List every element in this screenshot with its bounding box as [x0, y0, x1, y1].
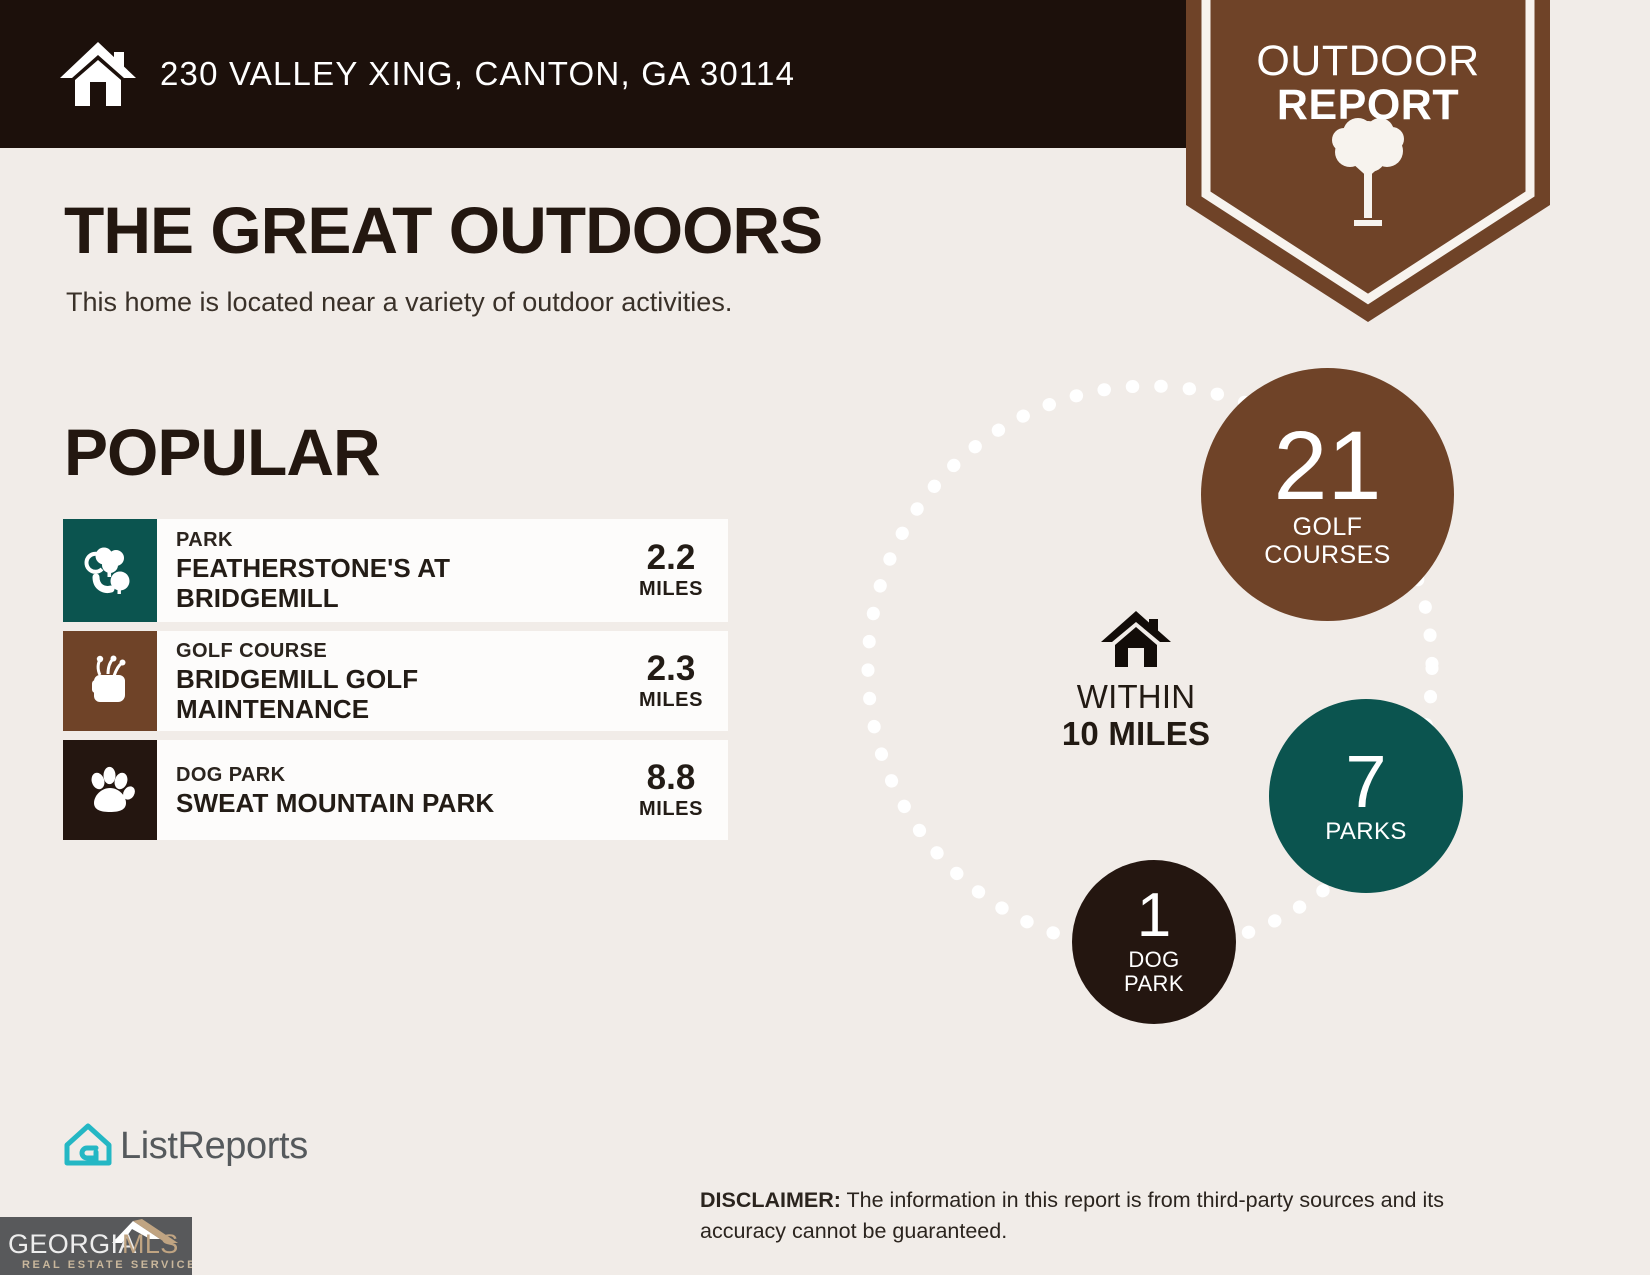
- list-item-name-line1: FEATHERSTONE'S AT: [176, 553, 450, 583]
- bubble-count: 1: [1137, 887, 1171, 946]
- bubble-label-line1: GOLF: [1293, 513, 1363, 541]
- list-item-name: FEATHERSTONE'S AT BRIDGEMILL: [176, 554, 450, 614]
- list-item-category: PARK: [176, 527, 450, 554]
- distance-value: 8.8: [647, 760, 696, 795]
- bubble-label: DOG PARK: [1124, 948, 1184, 996]
- distance-value: 2.3: [647, 651, 696, 686]
- list-item-distance: 2.2 MILES: [620, 519, 728, 622]
- page-title: THE GREAT OUTDOORS: [64, 192, 822, 268]
- bubble-label: PARKS: [1325, 819, 1407, 845]
- bubble-count: 21: [1274, 420, 1382, 512]
- svg-text:REAL ESTATE SERVICES: REAL ESTATE SERVICES: [22, 1259, 192, 1271]
- list-item-name: BRIDGEMILL GOLF MAINTENANCE: [176, 665, 616, 725]
- page-subtitle: This home is located near a variety of o…: [66, 287, 732, 318]
- outdoor-report-page: 230 VALLEY XING, CANTON, GA 30114 OUTDOO…: [0, 0, 1650, 1275]
- disclaimer: DISCLAIMER: The information in this repo…: [700, 1185, 1530, 1246]
- bubble-label-line2: PARK: [1124, 971, 1184, 996]
- list-item-category: DOG PARK: [176, 762, 494, 789]
- bubble-label: GOLF COURSES: [1264, 514, 1390, 569]
- within-label-line1: WITHIN: [1041, 679, 1231, 716]
- bubble-label-line2: COURSES: [1264, 541, 1390, 569]
- distance-value: 2.2: [647, 540, 696, 575]
- list-item-name-line2: BRIDGEMILL: [176, 583, 339, 613]
- listreports-wordmark: ListReports: [120, 1125, 308, 1168]
- amenities-diagram: 21 GOLF COURSES 7 PARKS 1 DOG PARK: [828, 340, 1528, 1070]
- bubble-parks: 7 PARKS: [1269, 699, 1463, 893]
- list-item[interactable]: DOG PARK SWEAT MOUNTAIN PARK 8.8 MILES: [63, 740, 728, 840]
- property-address: 230 VALLEY XING, CANTON, GA 30114: [160, 55, 795, 93]
- list-item-text: PARK FEATHERSTONE'S AT BRIDGEMILL: [157, 519, 620, 622]
- diagram-center-label: WITHIN 10 MILES: [1041, 608, 1231, 753]
- listreports-house-icon: [62, 1120, 114, 1173]
- list-item[interactable]: GOLF COURSE BRIDGEMILL GOLF MAINTENANCE …: [63, 631, 728, 731]
- distance-unit: MILES: [639, 689, 703, 712]
- svg-text:GEORGIA: GEORGIA: [8, 1229, 137, 1259]
- park-trees-icon: [63, 519, 157, 622]
- list-item-distance: 2.3 MILES: [620, 631, 728, 731]
- popular-list: PARK FEATHERSTONE'S AT BRIDGEMILL 2.2 MI…: [63, 519, 728, 849]
- svg-text:MLS: MLS: [122, 1229, 179, 1259]
- distance-unit: MILES: [639, 798, 703, 821]
- list-item-text: DOG PARK SWEAT MOUNTAIN PARK: [157, 740, 620, 840]
- popular-section-heading: POPULAR: [64, 414, 380, 490]
- distance-unit: MILES: [639, 578, 703, 601]
- list-item-text: GOLF COURSE BRIDGEMILL GOLF MAINTENANCE: [157, 631, 620, 731]
- listreports-logo[interactable]: ListReports: [62, 1120, 308, 1173]
- within-label-line2: 10 MILES: [1041, 716, 1231, 753]
- list-item[interactable]: PARK FEATHERSTONE'S AT BRIDGEMILL 2.2 MI…: [63, 519, 728, 622]
- bubble-golf-courses: 21 GOLF COURSES: [1201, 368, 1454, 621]
- georgiamls-logo: GEORGIA MLS REAL ESTATE SERVICES: [0, 1217, 192, 1275]
- golf-bag-icon: [63, 631, 157, 731]
- bubble-count: 7: [1345, 747, 1386, 817]
- outdoor-report-badge: OUTDOOR REPORT: [1186, 0, 1550, 322]
- bubble-label-line1: DOG: [1128, 947, 1179, 972]
- home-icon: [1041, 608, 1231, 675]
- paw-print-icon: [63, 740, 157, 840]
- bubble-dog-park: 1 DOG PARK: [1072, 860, 1236, 1024]
- list-item-name: SWEAT MOUNTAIN PARK: [176, 789, 494, 819]
- disclaimer-label: DISCLAIMER:: [700, 1188, 841, 1212]
- list-item-distance: 8.8 MILES: [620, 740, 728, 840]
- header-bar: 230 VALLEY XING, CANTON, GA 30114: [0, 0, 1189, 148]
- list-item-category: GOLF COURSE: [176, 638, 616, 665]
- home-icon: [58, 38, 138, 110]
